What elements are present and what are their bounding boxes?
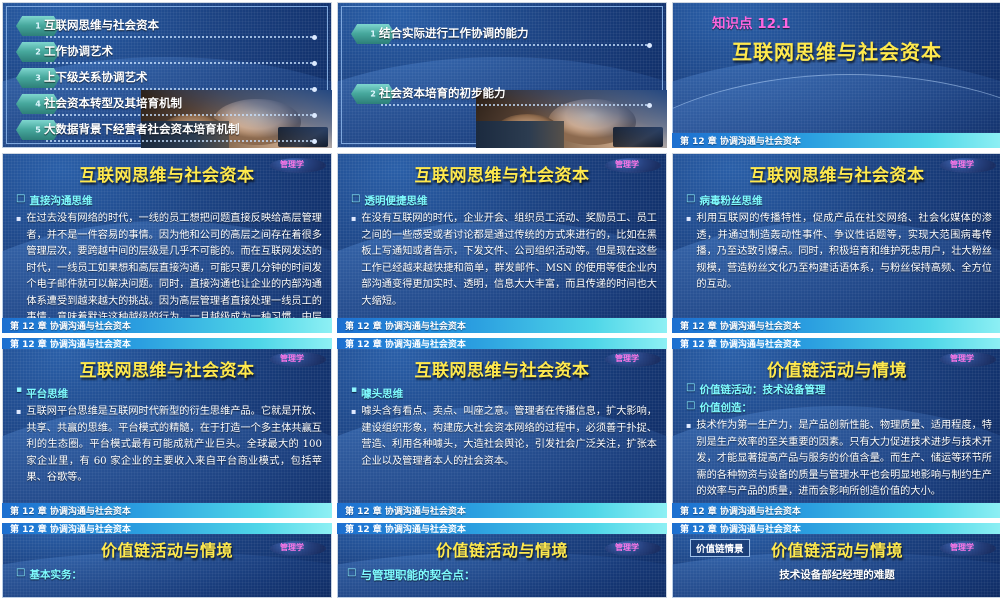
slide-thumbnail-cover[interactable]: 知识点 12.1 互联网思维与社会资本 第 12 章 协调沟通与社会资本: [672, 2, 1000, 148]
section-heading: □ 与管理职能的契合点：: [347, 567, 657, 583]
section-heading-label: 基本实务：: [29, 567, 82, 582]
knowledge-point-label: 知识点 12.1: [712, 12, 791, 32]
dot-bullet-icon: ▪: [16, 211, 21, 226]
footer-chapter-text: 第 12 章 协调沟通与社会资本: [345, 319, 466, 332]
course-badge-label: 管理学: [605, 159, 649, 170]
course-badge: 管理学: [605, 158, 661, 173]
hollow-square-bullet-icon: □: [347, 567, 356, 578]
dot-bullet-icon: ▪: [686, 211, 691, 226]
course-badge: 管理学: [940, 541, 996, 556]
course-badge-label: 管理学: [270, 159, 314, 170]
section-heading-label: 透明便捷思维: [364, 193, 427, 208]
previous-slide-footer-sliver: 第 12 章 协调沟通与社会资本: [2, 523, 332, 534]
footer-chapter-text: 第 12 章 协调沟通与社会资本: [680, 134, 801, 147]
slide-body: ▪ 平台思维 ▪ 互联网平台思维是互联网时代新型的衍生思维产品。它就是开放、共享…: [16, 386, 322, 487]
section-heading-label: 价值创造：: [699, 400, 752, 415]
course-badge-label: 管理学: [605, 353, 649, 364]
section-heading: □ 病毒粉丝思维: [686, 193, 992, 208]
dot-bullet-icon: ▪: [351, 404, 356, 419]
slide-footer: 第 12 章 协调沟通与社会资本: [672, 503, 1000, 518]
footer-chapter-text: 第 12 章 协调沟通与社会资本: [345, 504, 466, 517]
section-heading: □ 价值链活动：技术设备管理: [686, 382, 992, 397]
slide-footer: 第 12 章 协调沟通与社会资本: [2, 318, 332, 333]
dot-bullet-icon: ▪: [351, 211, 356, 226]
list-item-label: 工作协调艺术: [44, 43, 113, 59]
leader-dots: [46, 140, 312, 144]
body-text: 在没有互联网的时代，企业开会、组织员工活动、奖励员工、员工之间的一些感受或者讨论…: [361, 211, 657, 310]
body-text: 互联网平台思维是互联网时代新型的衍生思维产品。它就是开放、共享、共赢的思维。平台…: [26, 404, 322, 487]
leader-dots: [381, 104, 647, 108]
slide-body: □ 价值链活动：技术设备管理 □ 价值创造： ▪ 技术作为第一生产力，是产品创新…: [686, 382, 992, 501]
agenda-list: 1 互联网思维与社会资本 2 工作协调艺术 3 上下级关系协调艺术: [16, 16, 320, 146]
hollow-square-bullet-icon: □: [686, 193, 695, 204]
previous-slide-footer-sliver: 第 12 章 协调沟通与社会资本: [2, 338, 332, 349]
hollow-square-bullet-icon: □: [686, 400, 695, 411]
footer-chapter-text: 第 12 章 协调沟通与社会资本: [680, 319, 801, 332]
slide-body: ▪ 噱头思维 ▪ 噱头含有看点、卖点、叫座之意。管理者在传播信息，扩大影响，建设…: [351, 386, 657, 470]
slide-footer: 第 12 章 协调沟通与社会资本: [337, 318, 667, 333]
list-item[interactable]: 4 社会资本转型及其培育机制: [16, 94, 320, 116]
list-item[interactable]: 1 互联网思维与社会资本: [16, 16, 320, 38]
section-heading-label: 直接沟通思维: [29, 193, 92, 208]
list-item-label: 互联网思维与社会资本: [44, 17, 159, 33]
leader-dots: [46, 114, 312, 118]
section-heading-label: 噱头思维: [361, 386, 403, 401]
hollow-square-bullet-icon: □: [16, 193, 25, 204]
body-paragraph: ▪ 噱头含有看点、卖点、叫座之意。管理者在传播信息，扩大影响，建设组织形象，构建…: [351, 404, 657, 470]
body-paragraph: ▪ 在过去没有网络的时代，一线的员工想把问题直接反映给高层管理者，并不是一件容易…: [16, 211, 322, 333]
slide-thumbnail-viral-fans[interactable]: 管理学 互联网思维与社会资本 □ 病毒粉丝思维 ▪ 利用互联网的传播特性，促成产…: [672, 153, 1000, 333]
previous-slide-footer-sliver: 第 12 章 协调沟通与社会资本: [337, 523, 667, 534]
course-badge: 管理学: [940, 158, 996, 173]
slide-body: □ 透明便捷思维 ▪ 在没有互联网的时代，企业开会、组织员工活动、奖励员工、员工…: [351, 193, 657, 310]
page-title: 互联网思维与社会资本: [672, 36, 1000, 65]
footer-chapter-text: 第 12 章 协调沟通与社会资本: [10, 338, 131, 350]
hollow-square-bullet-icon: □: [16, 567, 25, 578]
slide-thumbnail-platform-thinking[interactable]: 第 12 章 协调沟通与社会资本 管理学 互联网思维与社会资本 ▪ 平台思维 ▪…: [2, 338, 332, 518]
list-item[interactable]: 3 上下级关系协调艺术: [16, 68, 320, 90]
list-item[interactable]: 2 社会资本培育的初步能力: [351, 84, 655, 108]
section-heading: □ 基本实务：: [16, 567, 322, 582]
list-item[interactable]: 5 大数据背景下经营者社会资本培育机制: [16, 120, 320, 142]
course-badge-label: 管理学: [270, 353, 314, 364]
slide-thumbnail-agenda-1[interactable]: 1 互联网思维与社会资本 2 工作协调艺术 3 上下级关系协调艺术: [2, 2, 332, 148]
course-badge: 管理学: [270, 541, 326, 556]
course-badge-label: 管理学: [940, 353, 984, 364]
footer-chapter-text: 第 12 章 协调沟通与社会资本: [680, 338, 801, 350]
list-item-label: 结合实际进行工作协调的能力: [379, 25, 529, 41]
section-heading-label: 与管理职能的契合点：: [360, 567, 475, 583]
course-badge-label: 管理学: [940, 542, 984, 553]
list-item-label: 大数据背景下经营者社会资本培育机制: [44, 121, 240, 137]
course-badge: 管理学: [605, 352, 661, 367]
slide-thumbnail-basic-practice[interactable]: 第 12 章 协调沟通与社会资本 管理学 价值链活动与情境 □ 基本实务：: [2, 523, 332, 598]
course-badge-label: 管理学: [940, 159, 984, 170]
footer-chapter-text: 第 12 章 协调沟通与社会资本: [680, 504, 801, 517]
section-heading: ▪ 平台思维: [16, 386, 322, 401]
slide-footer: 第 12 章 协调沟通与社会资本: [337, 503, 667, 518]
slide-footer: 第 12 章 协调沟通与社会资本: [672, 318, 1000, 333]
body-paragraph: ▪ 利用互联网的传播特性，促成产品在社交网络、社会化媒体的渗透，并通过制造轰动性…: [686, 211, 992, 294]
footer-chapter-text: 第 12 章 协调沟通与社会资本: [345, 523, 466, 535]
slide-thumbnail-value-chain-tech[interactable]: 第 12 章 协调沟通与社会资本 管理学 价值链活动与情境 □ 价值链活动：技术…: [672, 338, 1000, 518]
leader-dots: [46, 62, 312, 66]
agenda-list: 1 结合实际进行工作协调的能力 2 社会资本培育的初步能力: [351, 24, 655, 112]
list-item[interactable]: 2 工作协调艺术: [16, 42, 320, 64]
previous-slide-footer-sliver: 第 12 章 协调沟通与社会资本: [672, 523, 1000, 534]
section-heading-secondary: □ 价值创造：: [686, 400, 992, 415]
course-badge-label: 管理学: [605, 542, 649, 553]
slide-thumbnail-direct-communication[interactable]: 管理学 互联网思维与社会资本 □ 直接沟通思维 ▪ 在过去没有网络的时代，一线的…: [2, 153, 332, 333]
course-badge-label: 管理学: [270, 542, 314, 553]
footer-chapter-text: 第 12 章 协调沟通与社会资本: [680, 523, 801, 535]
slide-body: □ 直接沟通思维 ▪ 在过去没有网络的时代，一线的员工想把问题直接反映给高层管理…: [16, 193, 322, 333]
slide-thumbnail-transparent-convenient[interactable]: 管理学 互联网思维与社会资本 □ 透明便捷思维 ▪ 在没有互联网的时代，企业开会…: [337, 153, 667, 333]
list-item-label: 社会资本转型及其培育机制: [44, 95, 182, 111]
list-item-label: 上下级关系协调艺术: [44, 69, 148, 85]
body-paragraph: ▪ 互联网平台思维是互联网时代新型的衍生思维产品。它就是开放、共享、共赢的思维。…: [16, 404, 322, 487]
section-heading-label: 病毒粉丝思维: [699, 193, 762, 208]
section-heading: ▪ 噱头思维: [351, 386, 657, 401]
footer-chapter-text: 第 12 章 协调沟通与社会资本: [10, 523, 131, 535]
footer-chapter-text: 第 12 章 协调沟通与社会资本: [10, 504, 131, 517]
slide-body: □ 与管理职能的契合点：: [347, 567, 657, 586]
previous-slide-footer-sliver: 第 12 章 协调沟通与社会资本: [337, 338, 667, 349]
course-badge: 管理学: [605, 541, 661, 556]
body-paragraph: ▪ 技术作为第一生产力，是产品创新性能、物理质量、适用程度，特别是生产效率的至关…: [686, 418, 992, 501]
scenario-tag: 价值链情景: [690, 539, 750, 557]
scenario-subtitle: 技术设备部纪经理的难题: [672, 567, 1000, 582]
slide-footer: 第 12 章 协调沟通与社会资本: [672, 133, 1000, 148]
leader-dots: [46, 36, 312, 40]
dot-bullet-icon: ▪: [351, 386, 357, 396]
body-paragraph: ▪ 在没有互联网的时代，企业开会、组织员工活动、奖励员工、员工之间的一些感受或者…: [351, 211, 657, 310]
section-heading-label: 价值链活动：技术设备管理: [699, 382, 825, 397]
body-text: 在过去没有网络的时代，一线的员工想把问题直接反映给高层管理者，并不是一件容易的事…: [26, 211, 322, 333]
slide-footer: 第 12 章 协调沟通与社会资本: [2, 503, 332, 518]
slide-body: □ 基本实务：: [16, 567, 322, 585]
dot-bullet-icon: ▪: [686, 418, 691, 433]
slide-thumbnail-management-fit[interactable]: 第 12 章 协调沟通与社会资本 管理学 价值链活动与情境 □ 与管理职能的契合…: [337, 523, 667, 598]
section-heading: □ 直接沟通思维: [16, 193, 322, 208]
slide-thumbnail-grid: 1 互联网思维与社会资本 2 工作协调艺术 3 上下级关系协调艺术: [0, 0, 1000, 600]
footer-chapter-text: 第 12 章 协调沟通与社会资本: [10, 319, 131, 332]
dot-bullet-icon: ▪: [16, 386, 22, 396]
section-heading: □ 透明便捷思维: [351, 193, 657, 208]
body-text: 噱头含有看点、卖点、叫座之意。管理者在传播信息，扩大影响，建设组织形象，构建庞大…: [361, 404, 657, 470]
course-badge: 管理学: [940, 352, 996, 367]
list-item-label: 社会资本培育的初步能力: [379, 85, 506, 101]
section-heading-label: 平台思维: [26, 386, 68, 401]
body-text: 利用互联网的传播特性，促成产品在社交网络、社会化媒体的渗透，并通过制造轰动性事件…: [696, 211, 992, 294]
course-badge: 管理学: [270, 352, 326, 367]
dot-bullet-icon: ▪: [16, 404, 21, 419]
slide-thumbnail-gimmick-thinking[interactable]: 第 12 章 协调沟通与社会资本 管理学 互联网思维与社会资本 ▪ 噱头思维 ▪…: [337, 338, 667, 518]
slide-body: □ 病毒粉丝思维 ▪ 利用互联网的传播特性，促成产品在社交网络、社会化媒体的渗透…: [686, 193, 992, 294]
hollow-square-bullet-icon: □: [686, 382, 695, 393]
hollow-square-bullet-icon: □: [351, 193, 360, 204]
slide-thumbnail-value-chain-scenario[interactable]: 第 12 章 协调沟通与社会资本 管理学 价值链情景 价值链活动与情境 技术设备…: [672, 523, 1000, 598]
slide-thumbnail-agenda-2[interactable]: 1 结合实际进行工作协调的能力 2 社会资本培育的初步能力: [337, 2, 667, 148]
leader-dots: [381, 44, 647, 48]
previous-slide-footer-sliver: 第 12 章 协调沟通与社会资本: [672, 338, 1000, 349]
course-badge: 管理学: [270, 158, 326, 173]
body-text: 技术作为第一生产力，是产品创新性能、物理质量、适用程度，特别是生产效率的至关重要…: [696, 418, 992, 501]
footer-chapter-text: 第 12 章 协调沟通与社会资本: [345, 338, 466, 350]
list-item[interactable]: 1 结合实际进行工作协调的能力: [351, 24, 655, 48]
leader-dots: [46, 88, 312, 92]
